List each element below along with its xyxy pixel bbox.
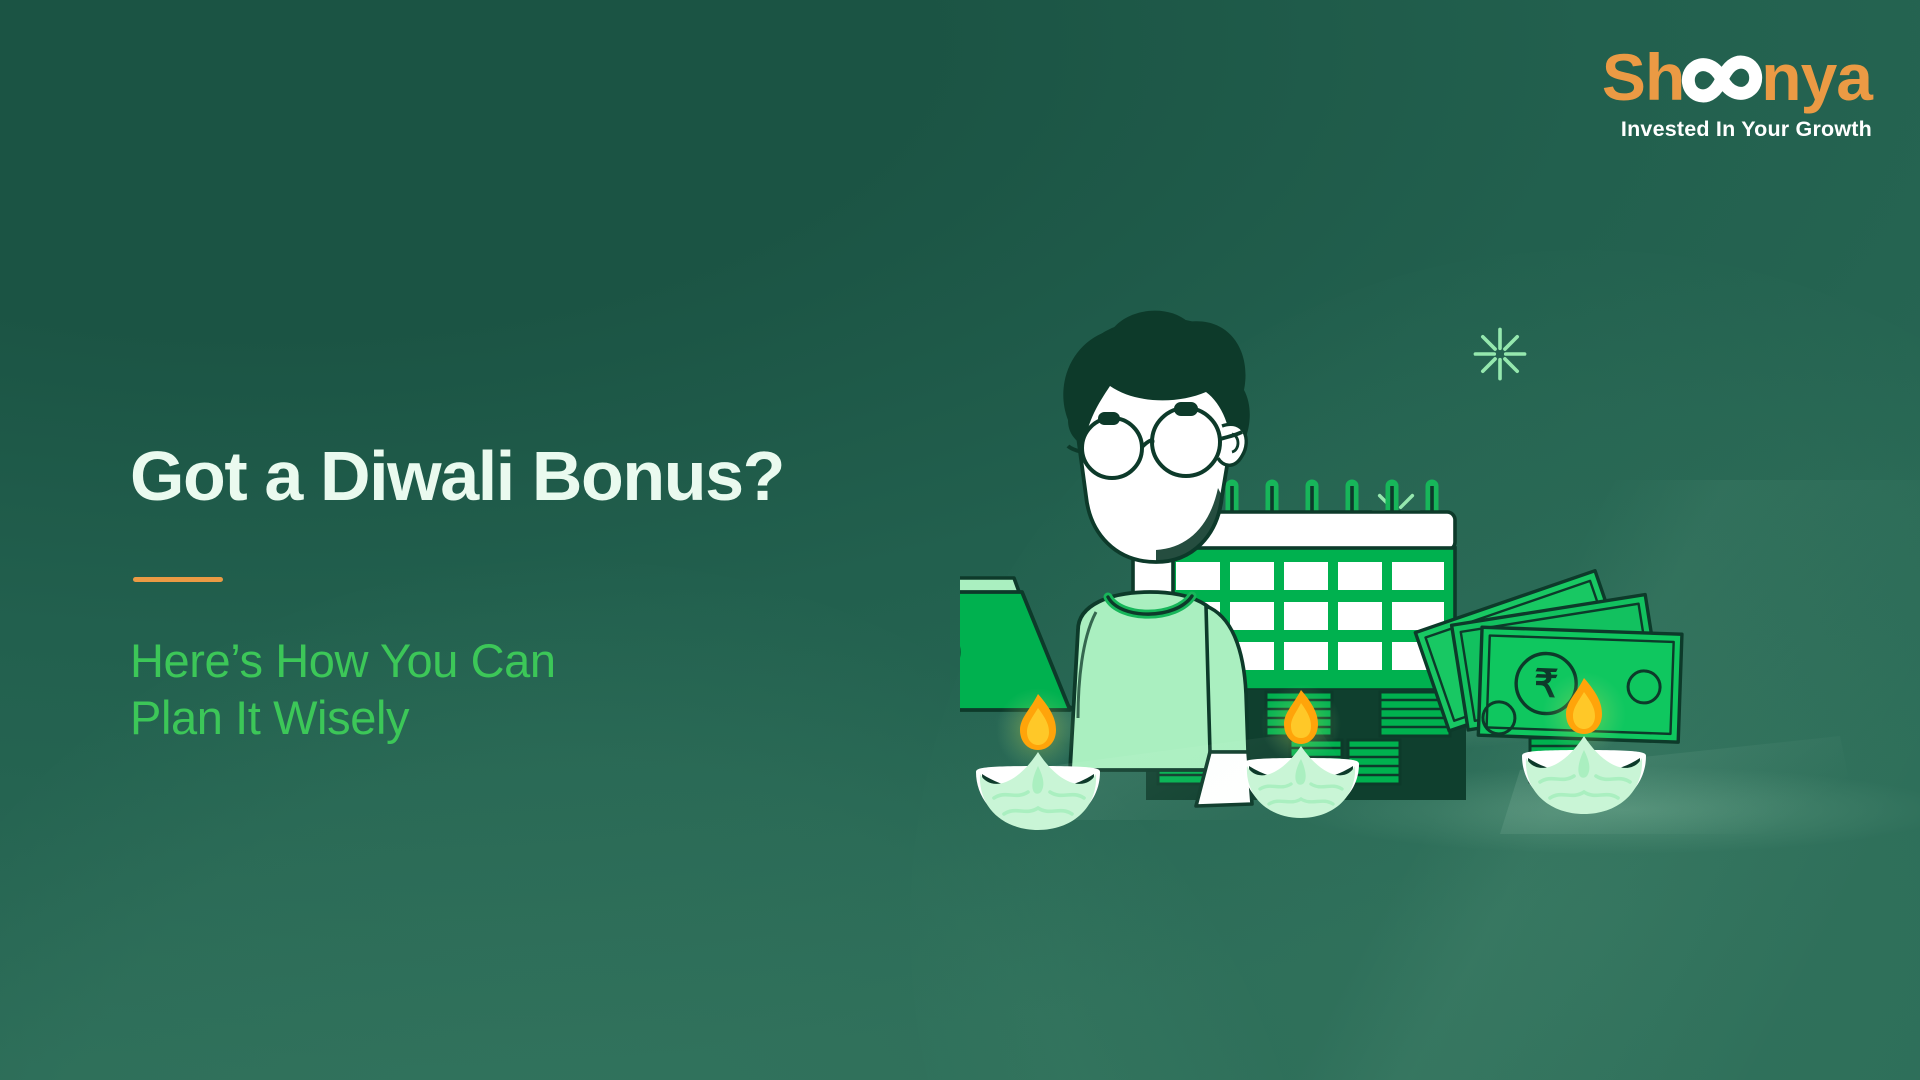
accent-divider [133, 577, 223, 582]
brand-logo-text-post: nya [1761, 44, 1872, 110]
brand-logo-wordmark: Sh nya [1602, 44, 1872, 110]
hero-illustration: ₹ [960, 300, 1920, 1000]
brand-logo-text-pre: Sh [1602, 44, 1684, 110]
brand-logo[interactable]: Sh nya Invested In Your Growth [1602, 44, 1872, 141]
diwali-bonus-banner: Sh nya Invested In Your Growth Got a Diw… [0, 0, 1920, 1080]
brand-tagline: Invested In Your Growth [1602, 119, 1872, 141]
infinity-symbol-icon [1681, 48, 1763, 114]
subheadline-line-1: Here’s How You Can [130, 634, 556, 687]
subheadline: Here’s How You Can Plan It Wisely [130, 632, 910, 747]
page-title: Got a Diwali Bonus? [130, 440, 910, 513]
headline-block: Got a Diwali Bonus? Here’s How You Can P… [130, 440, 910, 746]
subheadline-line-2: Plan It Wisely [130, 691, 409, 744]
laptop [960, 578, 1072, 710]
